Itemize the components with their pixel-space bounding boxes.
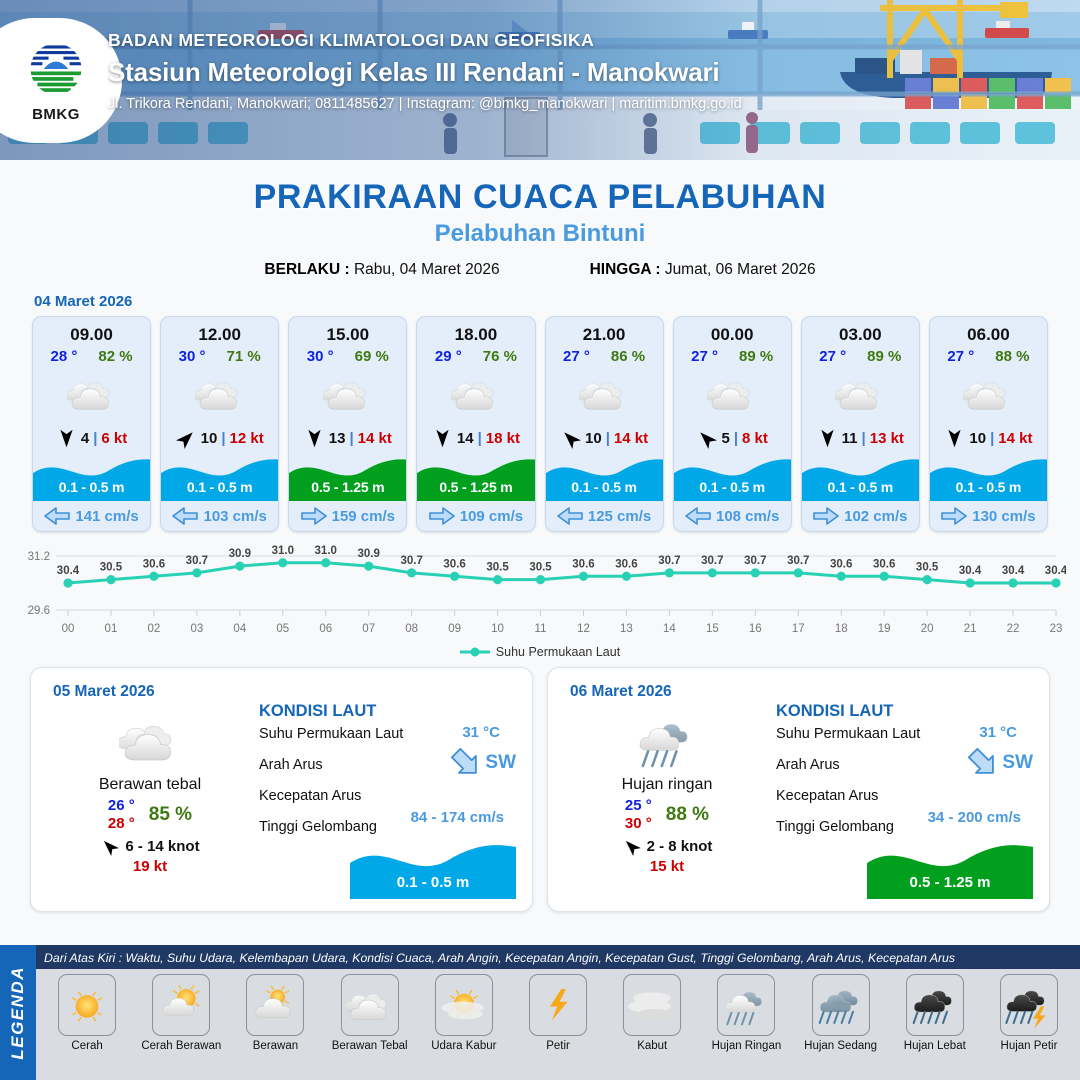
legend-icon-box (812, 974, 870, 1036)
day-wind: 6 - 14 knot (45, 837, 255, 856)
wind-separator: | (990, 430, 994, 447)
card-wind: 14 | 18 kt (417, 423, 534, 453)
card-time: 15.00 (289, 317, 406, 345)
card-time: 03.00 (802, 317, 919, 345)
card-wind: 5 | 8 kt (674, 423, 791, 453)
daily-forecast-row: 05 Maret 2026 Berawan tebal 26 ° 28 ° 85… (0, 659, 1080, 912)
legend-note: Dari Atas Kiri : Waktu, Suhu Udara, Kele… (36, 945, 1080, 969)
svg-text:16: 16 (749, 623, 762, 635)
day-wind-range: 2 - 8 knot (647, 838, 713, 855)
berawan-icon (251, 981, 299, 1029)
current-direction-icon (44, 507, 70, 525)
svg-text:11: 11 (535, 623, 547, 635)
hourly-card[interactable]: 00.00 27 ° 89 % 5 | 8 kt (673, 316, 792, 532)
svg-text:14: 14 (663, 623, 676, 635)
current-direction-icon (172, 507, 198, 525)
card-wave-height: 0.1 - 0.5 m (930, 479, 1047, 495)
card-time: 12.00 (161, 317, 278, 345)
svg-text:30.7: 30.7 (787, 555, 809, 567)
current-direction-icon (941, 507, 967, 525)
legend-icon-box (58, 974, 116, 1036)
wind-separator: | (93, 430, 97, 447)
card-current: 108 cm/s (674, 501, 791, 531)
day-temp-min: 26 ° (108, 797, 135, 814)
card-wind-gust: 14 kt (358, 430, 392, 447)
legend-side-tab: LEGENDA (0, 945, 36, 1080)
card-current: 102 cm/s (802, 501, 919, 531)
legend-caption: Hujan Petir (1001, 1040, 1058, 1052)
day-humidity: 88 % (666, 804, 709, 826)
card-temp-hum: 27 ° 88 % (930, 345, 1047, 365)
legend-item: Hujan Sedang (796, 974, 886, 1078)
svg-text:01: 01 (105, 623, 118, 635)
day-summary: Berawan tebal 26 ° 28 ° 85 % 6 - 14 knot… (45, 710, 255, 875)
wind-separator: | (606, 430, 610, 447)
legend-icon-box (623, 974, 681, 1036)
svg-text:09: 09 (448, 623, 461, 635)
card-wave-height: 0.1 - 0.5 m (161, 479, 278, 495)
card-humidity: 89 % (739, 348, 773, 365)
legend-caption: Cerah Berawan (141, 1040, 221, 1052)
card-wind-speed: 14 (457, 430, 474, 447)
svg-text:30.6: 30.6 (143, 558, 165, 570)
card-wind-gust: 18 kt (486, 430, 520, 447)
wind-separator: | (734, 430, 738, 447)
current-sw-arrow-icon (966, 748, 1000, 778)
card-temp-hum: 27 ° 89 % (802, 345, 919, 365)
day-weather-icon (45, 710, 255, 772)
svg-text:30.4: 30.4 (1002, 565, 1025, 577)
svg-text:30.4: 30.4 (959, 565, 982, 577)
svg-text:30.7: 30.7 (186, 555, 208, 567)
legend-icon-box (246, 974, 304, 1036)
berlaku: BERLAKU : Rabu, 04 Maret 2026 (264, 261, 499, 279)
daily-forecast-card[interactable]: 05 Maret 2026 Berawan tebal 26 ° 28 ° 85… (30, 667, 533, 912)
petir-icon (534, 981, 582, 1029)
contact-info: Jl. Trikora Rendani, Manokwari; 08114856… (108, 96, 742, 112)
card-wave-height: 0.1 - 0.5 m (546, 479, 663, 495)
sst-chart-svg: 31.229.600010203040506070809101112131415… (14, 542, 1066, 642)
current-direction-icon (301, 507, 327, 525)
cerah-icon (63, 981, 111, 1029)
card-weather-icon (930, 365, 1047, 423)
hingga-value: Jumat, 06 Maret 2026 (665, 261, 816, 278)
current-speed-row: Kecepatan Arus 84 - 174 cm/s (259, 783, 524, 814)
svg-text:30.6: 30.6 (873, 558, 895, 570)
svg-text:23: 23 (1050, 623, 1063, 635)
chart-legend-label: Suhu Permukaan Laut (496, 645, 620, 659)
card-time: 09.00 (33, 317, 150, 345)
hourly-date-label: 04 Maret 2026 (34, 293, 1080, 310)
hourly-card[interactable]: 06.00 27 ° 88 % 10 | 14 kt (929, 316, 1048, 532)
card-temperature: 28 ° (51, 348, 78, 365)
svg-text:30.7: 30.7 (400, 555, 422, 567)
card-current-speed: 130 cm/s (972, 508, 1035, 525)
berawan-tebal-icon (579, 369, 629, 419)
card-current-speed: 109 cm/s (460, 508, 523, 525)
chart-legend-marker-icon (460, 647, 490, 657)
card-time: 06.00 (930, 317, 1047, 345)
current-dir-row: Arah Arus SW (776, 752, 1041, 783)
card-wave: 0.1 - 0.5 m (33, 453, 150, 501)
page-title: PRAKIRAAN CUACA PELABUHAN (0, 178, 1080, 217)
svg-text:30.6: 30.6 (615, 558, 637, 570)
sea-conditions-title: KONDISI LAUT (259, 702, 524, 721)
legend-caption: Hujan Sedang (804, 1040, 877, 1052)
day-condition: Berawan tebal (45, 776, 255, 794)
day-temp-max: 28 ° (108, 815, 135, 832)
day-wave-graphic: 0.1 - 0.5 m (350, 837, 516, 899)
current-direction-icon (557, 507, 583, 525)
wind-direction-icon (304, 428, 325, 449)
card-current-speed: 103 cm/s (203, 508, 266, 525)
card-time: 18.00 (417, 317, 534, 345)
legend-icon-box (1000, 974, 1058, 1036)
card-wave-height: 0.5 - 1.25 m (417, 479, 534, 495)
berawan-tebal-icon (835, 369, 885, 419)
svg-text:05: 05 (276, 623, 289, 635)
card-wind-gust: 6 kt (101, 430, 127, 447)
svg-text:02: 02 (148, 623, 161, 635)
hourly-card[interactable]: 18.00 29 ° 76 % 14 | 18 kt (416, 316, 535, 532)
svg-text:18: 18 (835, 623, 848, 635)
card-wave: 0.1 - 0.5 m (546, 453, 663, 501)
legend-caption: Hujan Ringan (712, 1040, 782, 1052)
sst-chart: 31.229.600010203040506070809101112131415… (14, 542, 1066, 642)
svg-text:12: 12 (577, 623, 590, 635)
agency-name: BADAN METEOROLOGI KLIMATOLOGI DAN GEOFIS… (108, 30, 742, 51)
svg-text:30.5: 30.5 (100, 562, 123, 574)
card-temp-hum: 27 ° 86 % (546, 345, 663, 365)
legend-icon-box (341, 974, 399, 1036)
day-wind-range: 6 - 14 knot (125, 838, 199, 855)
svg-text:00: 00 (62, 623, 75, 635)
berawan-tebal-icon (963, 369, 1013, 419)
card-wind-speed: 10 (969, 430, 986, 447)
card-wind-speed: 10 (201, 430, 218, 447)
svg-text:30.4: 30.4 (1045, 565, 1066, 577)
wind-direction-icon (560, 428, 581, 449)
svg-text:19: 19 (878, 623, 891, 635)
current-dir-value: SW (1002, 752, 1033, 774)
svg-text:31.0: 31.0 (315, 545, 337, 557)
svg-text:30.9: 30.9 (358, 548, 380, 560)
card-wind: 10 | 14 kt (546, 423, 663, 453)
current-dir-value-group: SW (966, 748, 1033, 778)
wind-separator: | (478, 430, 482, 447)
svg-text:20: 20 (921, 623, 934, 635)
berawan-tebal-icon (451, 369, 501, 419)
card-humidity: 86 % (611, 348, 645, 365)
legend-icon-box (906, 974, 964, 1036)
card-wind-gust: 14 kt (614, 430, 648, 447)
card-temperature: 27 ° (691, 348, 718, 365)
port-name: Pelabuhan Bintuni (0, 220, 1080, 248)
hujan-ringan-icon (636, 710, 698, 772)
card-wind: 10 | 14 kt (930, 423, 1047, 453)
hourly-card[interactable]: 03.00 27 ° 89 % 11 | 13 kt (801, 316, 920, 532)
wind-direction-icon (176, 428, 197, 449)
card-weather-icon (546, 365, 663, 423)
wind-direction-icon (622, 837, 641, 856)
legend-icon-box (435, 974, 493, 1036)
card-wave-height: 0.1 - 0.5 m (674, 479, 791, 495)
card-wind: 13 | 14 kt (289, 423, 406, 453)
card-current: 130 cm/s (930, 501, 1047, 531)
legend-icon-box (529, 974, 587, 1036)
card-current-speed: 141 cm/s (75, 508, 138, 525)
title-block: PRAKIRAAN CUACA PELABUHAN Pelabuhan Bint… (0, 178, 1080, 279)
legend-caption: Kabut (637, 1040, 667, 1052)
svg-text:30.5: 30.5 (529, 562, 552, 574)
day-condition: Hujan ringan (562, 776, 772, 794)
card-current-speed: 159 cm/s (332, 508, 395, 525)
card-current-speed: 102 cm/s (844, 508, 907, 525)
berawan-tebal-icon (707, 369, 757, 419)
day-temps: 25 ° 30 ° 88 % (562, 797, 772, 832)
day-wave-graphic: 0.5 - 1.25 m (867, 837, 1033, 899)
day-weather-icon (562, 710, 772, 772)
card-humidity: 89 % (867, 348, 901, 365)
berawan-tebal-icon (119, 710, 181, 772)
legend-body: Dari Atas Kiri : Waktu, Suhu Udara, Kele… (36, 945, 1080, 1080)
card-wave-height: 0.1 - 0.5 m (802, 479, 919, 495)
card-temp-hum: 29 ° 76 % (417, 345, 534, 365)
card-weather-icon (289, 365, 406, 423)
card-time: 21.00 (546, 317, 663, 345)
wind-direction-icon (56, 428, 77, 449)
svg-text:30.5: 30.5 (486, 562, 509, 574)
card-weather-icon (802, 365, 919, 423)
card-current: 141 cm/s (33, 501, 150, 531)
card-wind-speed: 13 (329, 430, 346, 447)
station-name: Stasiun Meteorologi Kelas III Rendani - … (108, 57, 742, 88)
card-humidity: 82 % (98, 348, 132, 365)
svg-text:31.2: 31.2 (28, 551, 50, 563)
card-wind-speed: 5 (721, 430, 729, 447)
bmkg-logo: BMKG (0, 18, 122, 143)
legend-icon-box (717, 974, 775, 1036)
card-current: 109 cm/s (417, 501, 534, 531)
legend-caption: Berawan (253, 1040, 298, 1052)
logo-label: BMKG (25, 106, 87, 123)
card-wind-speed: 11 (842, 430, 858, 447)
wind-direction-icon (817, 428, 838, 449)
hingga-label: HINGGA : (590, 261, 661, 278)
card-wind: 11 | 13 kt (802, 423, 919, 453)
wind-separator: | (862, 430, 866, 447)
card-temperature: 27 ° (563, 348, 590, 365)
card-temperature: 29 ° (435, 348, 462, 365)
berawan-tebal-icon (195, 369, 245, 419)
svg-text:13: 13 (620, 623, 633, 635)
day-date: 06 Maret 2026 (570, 683, 672, 701)
card-humidity: 88 % (995, 348, 1029, 365)
card-wave-height: 0.1 - 0.5 m (33, 479, 150, 495)
card-time: 00.00 (674, 317, 791, 345)
sst-value: 31 °C (979, 724, 1017, 741)
legend-item: Berawan (230, 974, 320, 1078)
berawan-tebal-icon (323, 369, 373, 419)
day-temp-min: 25 ° (625, 797, 652, 814)
card-wave: 0.1 - 0.5 m (802, 453, 919, 501)
hourly-card[interactable]: 09.00 28 ° 82 % 4 | 6 kt (32, 316, 151, 532)
svg-text:17: 17 (792, 623, 805, 635)
card-wave: 0.1 - 0.5 m (674, 453, 791, 501)
day-temps: 26 ° 28 ° 85 % (45, 797, 255, 832)
legend-bar: LEGENDA Dari Atas Kiri : Waktu, Suhu Uda… (0, 945, 1080, 1080)
card-temperature: 30 ° (179, 348, 206, 365)
svg-text:04: 04 (233, 623, 246, 635)
chart-legend: Suhu Permukaan Laut (0, 645, 1080, 659)
cerah-berawan-icon (157, 981, 205, 1029)
day-wind: 2 - 8 knot (562, 837, 772, 856)
svg-text:30.6: 30.6 (572, 558, 594, 570)
card-temperature: 27 ° (947, 348, 974, 365)
udara-kabur-icon (440, 981, 488, 1029)
card-current: 103 cm/s (161, 501, 278, 531)
svg-text:30.7: 30.7 (744, 555, 766, 567)
legend-caption: Udara Kabur (431, 1040, 496, 1052)
hourly-card[interactable]: 21.00 27 ° 86 % 10 | 14 kt (545, 316, 664, 532)
hujan-petir-icon (1005, 981, 1053, 1029)
legend-item: Hujan Lebat (890, 974, 980, 1078)
card-humidity: 69 % (355, 348, 389, 365)
card-weather-icon (417, 365, 534, 423)
card-temp-hum: 30 ° 71 % (161, 345, 278, 365)
wind-direction-icon (696, 428, 717, 449)
card-wind-gust: 8 kt (742, 430, 768, 447)
card-wave: 0.1 - 0.5 m (930, 453, 1047, 501)
svg-text:30.6: 30.6 (443, 558, 465, 570)
svg-text:30.4: 30.4 (57, 565, 80, 577)
card-current-speed: 125 cm/s (588, 508, 651, 525)
current-speed-label: Kecepatan Arus (776, 783, 1041, 804)
berlaku-value: Rabu, 04 Maret 2026 (354, 261, 500, 278)
legend-item: Berawan Tebal (325, 974, 415, 1078)
legend-item: Petir (513, 974, 603, 1078)
card-wind: 4 | 6 kt (33, 423, 150, 453)
card-current: 159 cm/s (289, 501, 406, 531)
berawan-tebal-icon (346, 981, 394, 1029)
card-wave: 0.1 - 0.5 m (161, 453, 278, 501)
day-wave-height: 0.1 - 0.5 m (350, 874, 516, 891)
svg-text:08: 08 (405, 623, 418, 635)
card-wave: 0.5 - 1.25 m (417, 453, 534, 501)
legend-caption: Petir (546, 1040, 570, 1052)
current-dir-row: Arah Arus SW (259, 752, 524, 783)
legend-caption: Berawan Tebal (332, 1040, 408, 1052)
card-wind-gust: 12 kt (230, 430, 264, 447)
current-direction-icon (685, 507, 711, 525)
wave-label: Tinggi Gelombang (776, 814, 1041, 835)
legend-caption: Hujan Lebat (904, 1040, 966, 1052)
day-sea-conditions: KONDISI LAUT Suhu Permukaan Laut 31 °C A… (259, 702, 524, 845)
card-wave: 0.5 - 1.25 m (289, 453, 406, 501)
current-sw-arrow-icon (449, 748, 483, 778)
wind-separator: | (221, 430, 225, 447)
svg-text:03: 03 (190, 623, 203, 635)
card-wind-speed: 4 (81, 430, 89, 447)
svg-text:30.7: 30.7 (658, 555, 680, 567)
svg-text:30.5: 30.5 (916, 562, 939, 574)
current-dir-value-group: SW (449, 748, 516, 778)
wind-direction-icon (944, 428, 965, 449)
svg-text:30.7: 30.7 (701, 555, 723, 567)
card-wind-gust: 13 kt (870, 430, 904, 447)
hingga: HINGGA : Jumat, 06 Maret 2026 (590, 261, 816, 279)
svg-text:10: 10 (491, 623, 504, 635)
wind-direction-icon (100, 837, 119, 856)
hujan-lebat-icon (911, 981, 959, 1029)
hujan-sedang-icon (817, 981, 865, 1029)
legend-caption: Cerah (71, 1040, 102, 1052)
card-weather-icon (33, 365, 150, 423)
day-temp-max: 30 ° (625, 815, 652, 832)
card-wind-speed: 10 (585, 430, 602, 447)
svg-text:22: 22 (1007, 623, 1020, 635)
current-direction-icon (813, 507, 839, 525)
legend-item: Kabut (607, 974, 697, 1078)
card-temp-hum: 30 ° 69 % (289, 345, 406, 365)
legend-icon-box (152, 974, 210, 1036)
hourly-forecast-row: 09.00 28 ° 82 % 4 | 6 kt (0, 316, 1080, 532)
card-current-speed: 108 cm/s (716, 508, 779, 525)
card-wave-height: 0.5 - 1.25 m (289, 479, 406, 495)
berawan-tebal-icon (67, 369, 117, 419)
card-wind-gust: 14 kt (998, 430, 1032, 447)
legend-side-label: LEGENDA (8, 966, 28, 1060)
sea-conditions-title: KONDISI LAUT (776, 702, 1041, 721)
card-temp-hum: 28 ° 82 % (33, 345, 150, 365)
svg-text:30.9: 30.9 (229, 548, 251, 560)
card-humidity: 76 % (483, 348, 517, 365)
svg-text:31.0: 31.0 (272, 545, 294, 557)
day-wind-gust: 15 kt (562, 858, 772, 875)
hourly-card[interactable]: 12.00 30 ° 71 % 10 | 12 kt (160, 316, 279, 532)
validity-row: BERLAKU : Rabu, 04 Maret 2026 HINGGA : J… (0, 261, 1080, 279)
card-wind: 10 | 12 kt (161, 423, 278, 453)
card-humidity: 71 % (227, 348, 261, 365)
legend-item: Cerah Berawan (136, 974, 226, 1078)
hujan-ringan-icon (722, 981, 770, 1029)
day-humidity: 85 % (149, 804, 192, 826)
current-speed-label: Kecepatan Arus (259, 783, 524, 804)
bmkg-emblem-icon (25, 38, 87, 100)
daily-forecast-card[interactable]: 06 Maret 2026 Hujan ringan 25 ° 30 ° 88 … (547, 667, 1050, 912)
svg-text:07: 07 (362, 623, 375, 635)
legend-item: Hujan Petir (984, 974, 1074, 1078)
legend-items: Cerah Cerah Berawan (36, 969, 1080, 1080)
day-summary: Hujan ringan 25 ° 30 ° 88 % 2 - 8 knot 1… (562, 710, 772, 875)
card-temperature: 30 ° (307, 348, 334, 365)
card-temperature: 27 ° (819, 348, 846, 365)
hourly-card[interactable]: 15.00 30 ° 69 % 13 | 14 kt (288, 316, 407, 532)
berlaku-label: BERLAKU : (264, 261, 349, 278)
svg-text:15: 15 (706, 623, 719, 635)
svg-text:30.6: 30.6 (830, 558, 852, 570)
legend-item: Udara Kabur (419, 974, 509, 1078)
svg-text:21: 21 (964, 623, 977, 635)
card-current: 125 cm/s (546, 501, 663, 531)
sst-value: 31 °C (462, 724, 500, 741)
wind-separator: | (349, 430, 353, 447)
card-weather-icon (161, 365, 278, 423)
kabut-icon (628, 981, 676, 1029)
current-dir-value: SW (485, 752, 516, 774)
day-sea-conditions: KONDISI LAUT Suhu Permukaan Laut 31 °C A… (776, 702, 1041, 845)
card-weather-icon (674, 365, 791, 423)
